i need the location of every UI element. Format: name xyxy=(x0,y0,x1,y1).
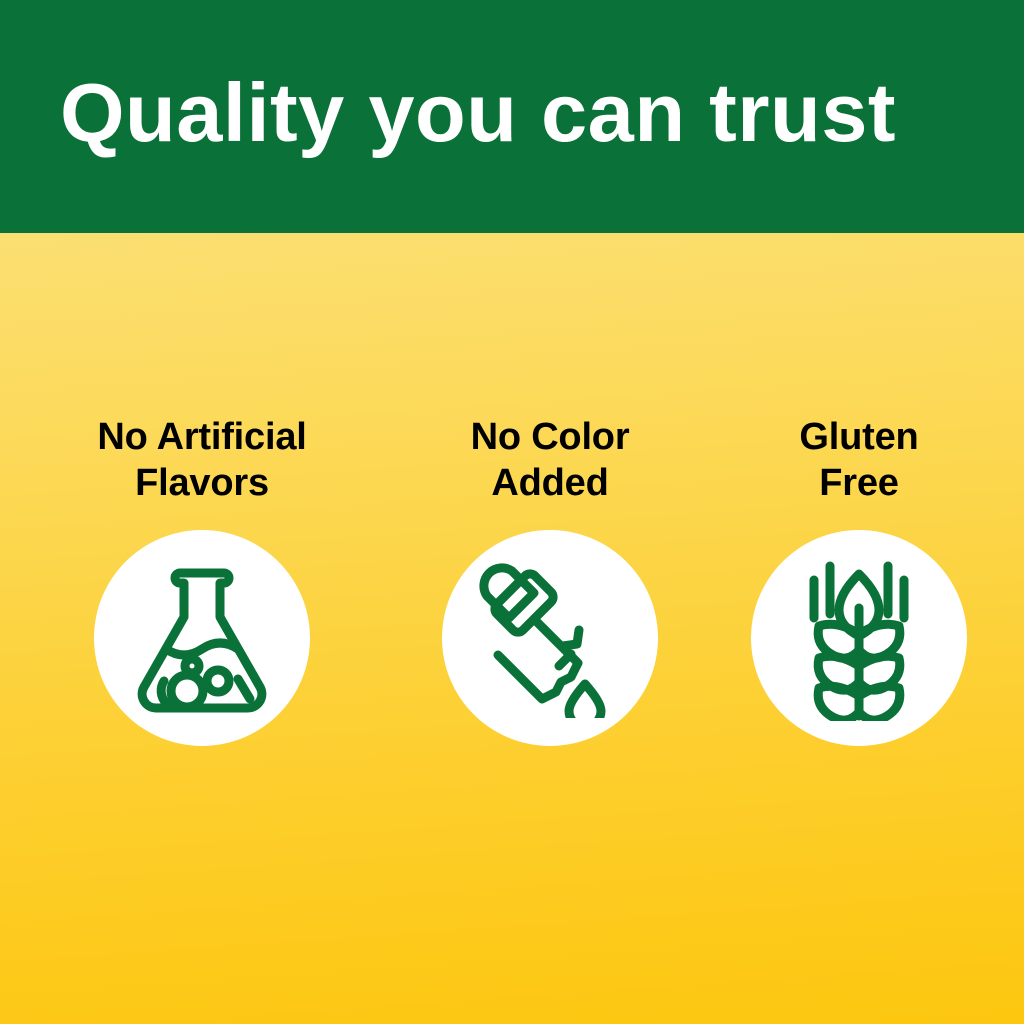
icon-circle xyxy=(94,530,310,746)
flask-icon xyxy=(132,563,272,713)
feature-no-artificial-flavors: No Artificial Flavors xyxy=(50,415,354,746)
feature-gluten-free: Gluten Free xyxy=(751,415,967,746)
header-band: Quality you can trust xyxy=(0,0,1024,233)
icon-circle xyxy=(442,530,658,746)
feature-list: No Artificial Flavors No Color Added xyxy=(0,415,1024,746)
page-title: Quality you can trust xyxy=(0,71,896,154)
wheat-icon xyxy=(794,556,924,721)
feature-label: No Artificial Flavors xyxy=(97,415,306,506)
feature-label: Gluten Free xyxy=(799,415,918,506)
icon-circle xyxy=(751,530,967,746)
quality-banner: Quality you can trust No Artificial Flav… xyxy=(0,0,1024,1024)
dropper-icon xyxy=(475,558,625,718)
feature-no-color-added: No Color Added xyxy=(425,415,675,746)
feature-label: No Color Added xyxy=(471,415,630,506)
